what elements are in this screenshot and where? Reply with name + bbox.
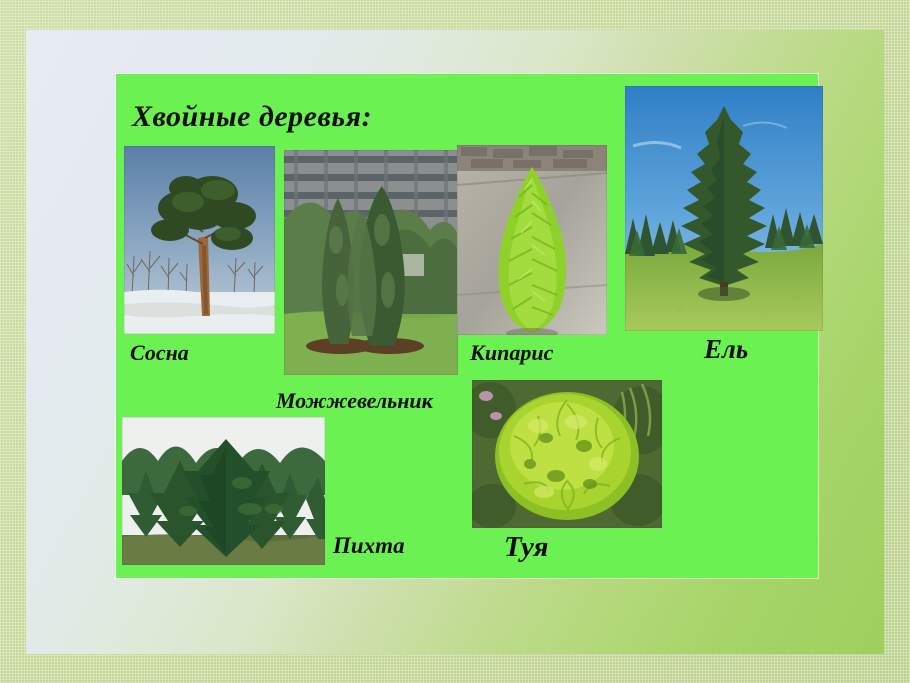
fir-label: Пихта xyxy=(333,533,405,559)
thuja-label: Туя xyxy=(504,531,548,564)
spruce-label: Ель xyxy=(704,334,748,365)
page-title: Хвойные деревья: xyxy=(132,100,372,134)
thuja-photo xyxy=(472,380,662,528)
fir-photo xyxy=(122,417,325,565)
juniper-photo xyxy=(284,150,458,375)
pine-photo xyxy=(124,146,275,334)
cypress-label: Кипарис xyxy=(470,340,553,366)
juniper-label: Можжевельник xyxy=(276,388,433,414)
cypress-photo xyxy=(457,145,607,335)
spruce-photo xyxy=(625,86,823,331)
slide-root: Хвойные деревья: xyxy=(0,0,910,683)
pine-label: Сосна xyxy=(130,340,189,366)
